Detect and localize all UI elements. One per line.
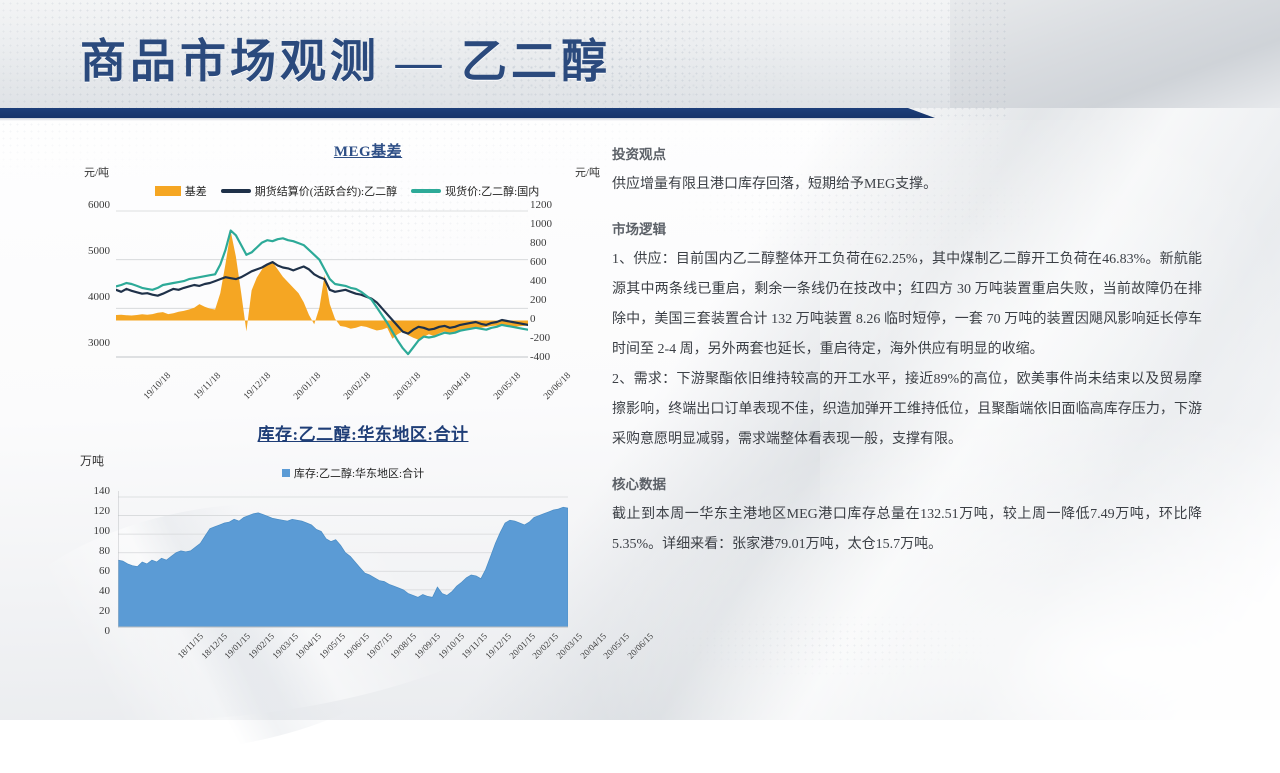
- chart2-plot: 140 120 100 80 60 40 20 0 18/11/1518/12/…: [78, 491, 598, 641]
- chart2-ytick-2: 100: [76, 525, 110, 537]
- section-market-logic: 市场逻辑 1、供应：目前国内乙二醇整体开工负荷在62.25%，其中煤制乙二醇开工…: [612, 218, 1202, 455]
- chart1-ytick-0: 6000: [74, 199, 110, 211]
- chart1-y2tick-5: 200: [530, 294, 574, 306]
- chart2-legend: 库存:乙二醇:华东地区:合计: [108, 465, 598, 481]
- chart1-y2tick-4: 400: [530, 275, 574, 287]
- legend-label-futures: 期货结算价(活跃合约):乙二醇: [255, 183, 397, 199]
- legend-label-spot: 现货价:乙二醇:国内: [445, 183, 539, 199]
- chart1-legend: 基差 期货结算价(活跃合约):乙二醇 现货价:乙二醇:国内: [96, 183, 598, 199]
- legend-item-inventory: 库存:乙二醇:华东地区:合计: [282, 465, 424, 481]
- chart1-y2tick-3: 600: [530, 256, 574, 268]
- section-heading: 核心数据: [612, 473, 1202, 493]
- section-heading: 市场逻辑: [612, 218, 1202, 238]
- chart1-ytick-2: 4000: [74, 291, 110, 303]
- legend-label-inventory: 库存:乙二醇:华东地区:合计: [294, 465, 424, 481]
- chart1-y2tick-6: 0: [530, 313, 574, 325]
- chart2-unit: 万吨: [80, 452, 104, 469]
- legend-item-basis: 基差: [155, 183, 207, 199]
- section-heading: 投资观点: [612, 143, 1202, 163]
- chart1-y2tick-2: 800: [530, 237, 574, 249]
- chart1-y2tick-0: 1200: [530, 199, 574, 211]
- commentary-panel: 投资观点 供应增量有限且港口库存回落，短期给予MEG支撑。 市场逻辑 1、供应：…: [612, 143, 1202, 703]
- legend-label-basis: 基差: [185, 183, 207, 199]
- chart1-y2tick-7: -200: [530, 332, 574, 344]
- chart1-plot: 6000 5000 4000 3000 1200 1000 800 600 40…: [78, 205, 598, 365]
- section-core-data: 核心数据 截止到本周一华东主港地区MEG港口库存总量在132.51万吨，较上周一…: [612, 473, 1202, 560]
- section-investment-view: 投资观点 供应增量有限且港口库存回落，短期给予MEG支撑。: [612, 143, 1202, 200]
- chart2-ytick-7: 0: [76, 625, 110, 637]
- spacer: [612, 200, 1202, 218]
- slide-header: 商品市场观测 — 乙二醇: [0, 0, 1280, 118]
- slide-canvas: 商品市场观测 — 乙二醇 MEG基差 元/吨 元/吨 基差 期货结算价(活跃合约…: [0, 0, 1280, 720]
- chart1-y2tick-1: 1000: [530, 218, 574, 230]
- header-accent-bar: [0, 108, 935, 118]
- legend-item-futures: 期货结算价(活跃合约):乙二醇: [221, 183, 397, 199]
- chart2-ytick-6: 20: [76, 605, 110, 617]
- legend-swatch-inventory-icon: [282, 469, 290, 477]
- chart1-ytick-3: 3000: [74, 337, 110, 349]
- legend-swatch-futures-icon: [221, 189, 251, 193]
- chart2-ytick-4: 60: [76, 565, 110, 577]
- legend-swatch-basis-icon: [155, 186, 181, 196]
- legend-swatch-spot-icon: [411, 189, 441, 193]
- page-title: 商品市场观测 — 乙二醇: [80, 36, 611, 88]
- chart1-ytick-1: 5000: [74, 245, 110, 257]
- chart2-svg: [118, 491, 568, 635]
- chart1-right-unit: 元/吨: [575, 164, 600, 180]
- legend-item-spot: 现货价:乙二醇:国内: [411, 183, 539, 199]
- chart2-ytick-3: 80: [76, 545, 110, 557]
- section-paragraph-demand: 2、需求：下游聚酯依旧维持较高的开工水平，接近89%的高位，欧美事件尚未结束以及…: [612, 365, 1202, 455]
- chart1-svg: [116, 205, 528, 363]
- chart1-title: MEG基差: [138, 140, 598, 161]
- chart1-y2tick-8: -400: [530, 351, 574, 363]
- section-paragraph-supply: 1、供应：目前国内乙二醇整体开工负荷在62.25%，其中煤制乙二醇开工负荷在46…: [612, 245, 1202, 365]
- chart2-title: 库存:乙二醇:华东地区:合计: [128, 420, 598, 445]
- chart2-ytick-1: 120: [76, 505, 110, 517]
- chart2-ytick-0: 140: [76, 485, 110, 497]
- chart2-ytick-5: 40: [76, 585, 110, 597]
- section-paragraph: 截止到本周一华东主港地区MEG港口库存总量在132.51万吨，较上周一降低7.4…: [612, 500, 1202, 560]
- spacer: [612, 455, 1202, 473]
- chart-meg-basis: MEG基差 元/吨 元/吨 基差 期货结算价(活跃合约):乙二醇 现货价:乙二醇…: [78, 140, 598, 400]
- section-paragraph: 供应增量有限且港口库存回落，短期给予MEG支撑。: [612, 170, 1202, 200]
- chart-meg-inventory: 库存:乙二醇:华东地区:合计 万吨 库存:乙二醇:华东地区:合计 140 120…: [78, 420, 598, 690]
- chart1-left-unit: 元/吨: [84, 164, 109, 180]
